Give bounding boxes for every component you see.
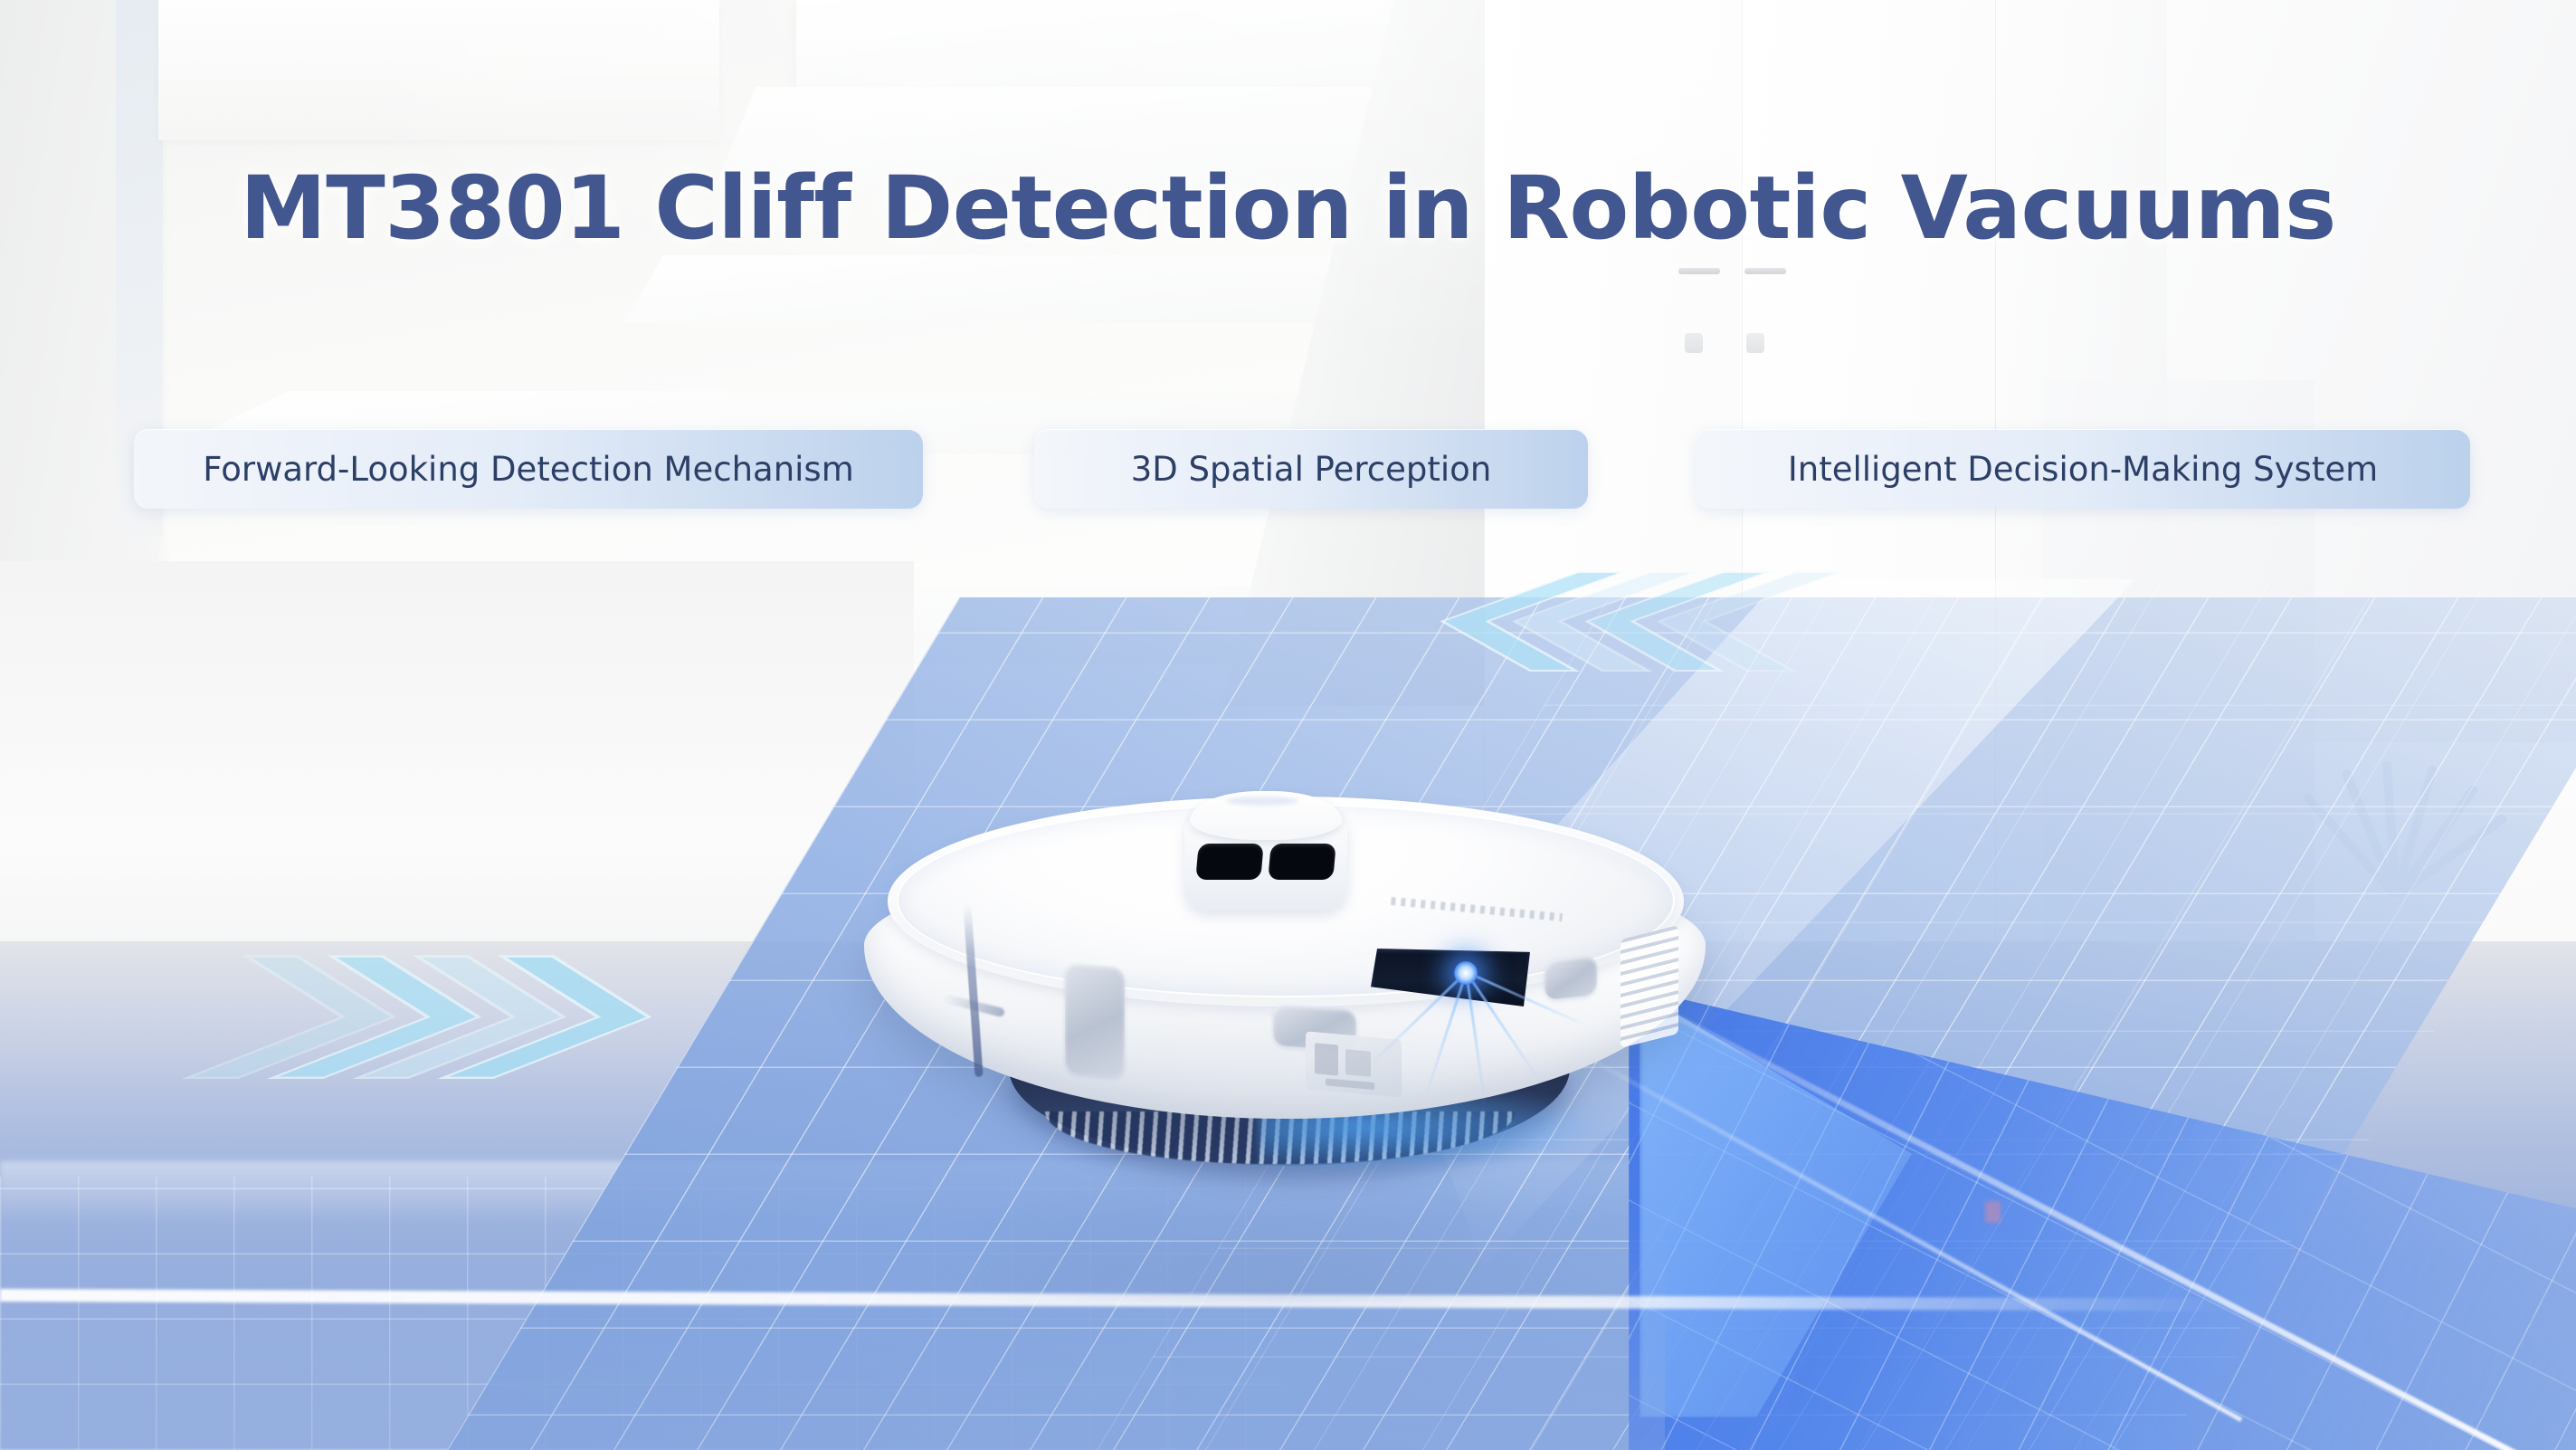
lidar-slot xyxy=(1195,844,1263,880)
robot-side-sensor-window xyxy=(1545,955,1597,1000)
led-indicator xyxy=(1454,961,1478,985)
lidar-highlight xyxy=(1226,797,1298,806)
feature-pill-row: Forward-Looking Detection Mechanism 3D S… xyxy=(0,429,2576,512)
door-handle-icon xyxy=(1744,268,1786,274)
hero-banner: MT3801 Cliff Detection in Robotic Vacuum… xyxy=(0,0,2576,1450)
robot-vent-slots xyxy=(1621,925,1678,1048)
lidar-slot xyxy=(1268,844,1336,880)
page-title: MT3801 Cliff Detection in Robotic Vacuum… xyxy=(0,157,2576,259)
lidar-turret xyxy=(1177,791,1355,911)
door-lock-icon xyxy=(1746,333,1764,353)
feature-pill-forward-looking-detection[interactable]: Forward-Looking Detection Mechanism xyxy=(134,429,923,509)
feature-pill-label: Forward-Looking Detection Mechanism xyxy=(203,450,854,489)
feature-pill-intelligent-decision-making[interactable]: Intelligent Decision-Making System xyxy=(1696,429,2470,509)
robot-floor-reflection xyxy=(914,1166,1656,1302)
robot-control-pad xyxy=(1306,1031,1402,1097)
feature-pill-label: 3D Spatial Perception xyxy=(1131,450,1492,489)
grid-marker-accent xyxy=(1985,1201,2001,1223)
door-handle-icon xyxy=(1678,268,1720,274)
feature-pill-label: Intelligent Decision-Making System xyxy=(1788,450,2378,489)
robotic-vacuum xyxy=(864,797,1706,1177)
feature-pill-3d-spatial-perception[interactable]: 3D Spatial Perception xyxy=(1034,429,1588,509)
door-lock-icon xyxy=(1685,333,1703,353)
upper-wall-slab xyxy=(158,0,719,140)
robot-side-sensor-window xyxy=(1065,962,1125,1078)
stair-tread xyxy=(796,0,1393,87)
